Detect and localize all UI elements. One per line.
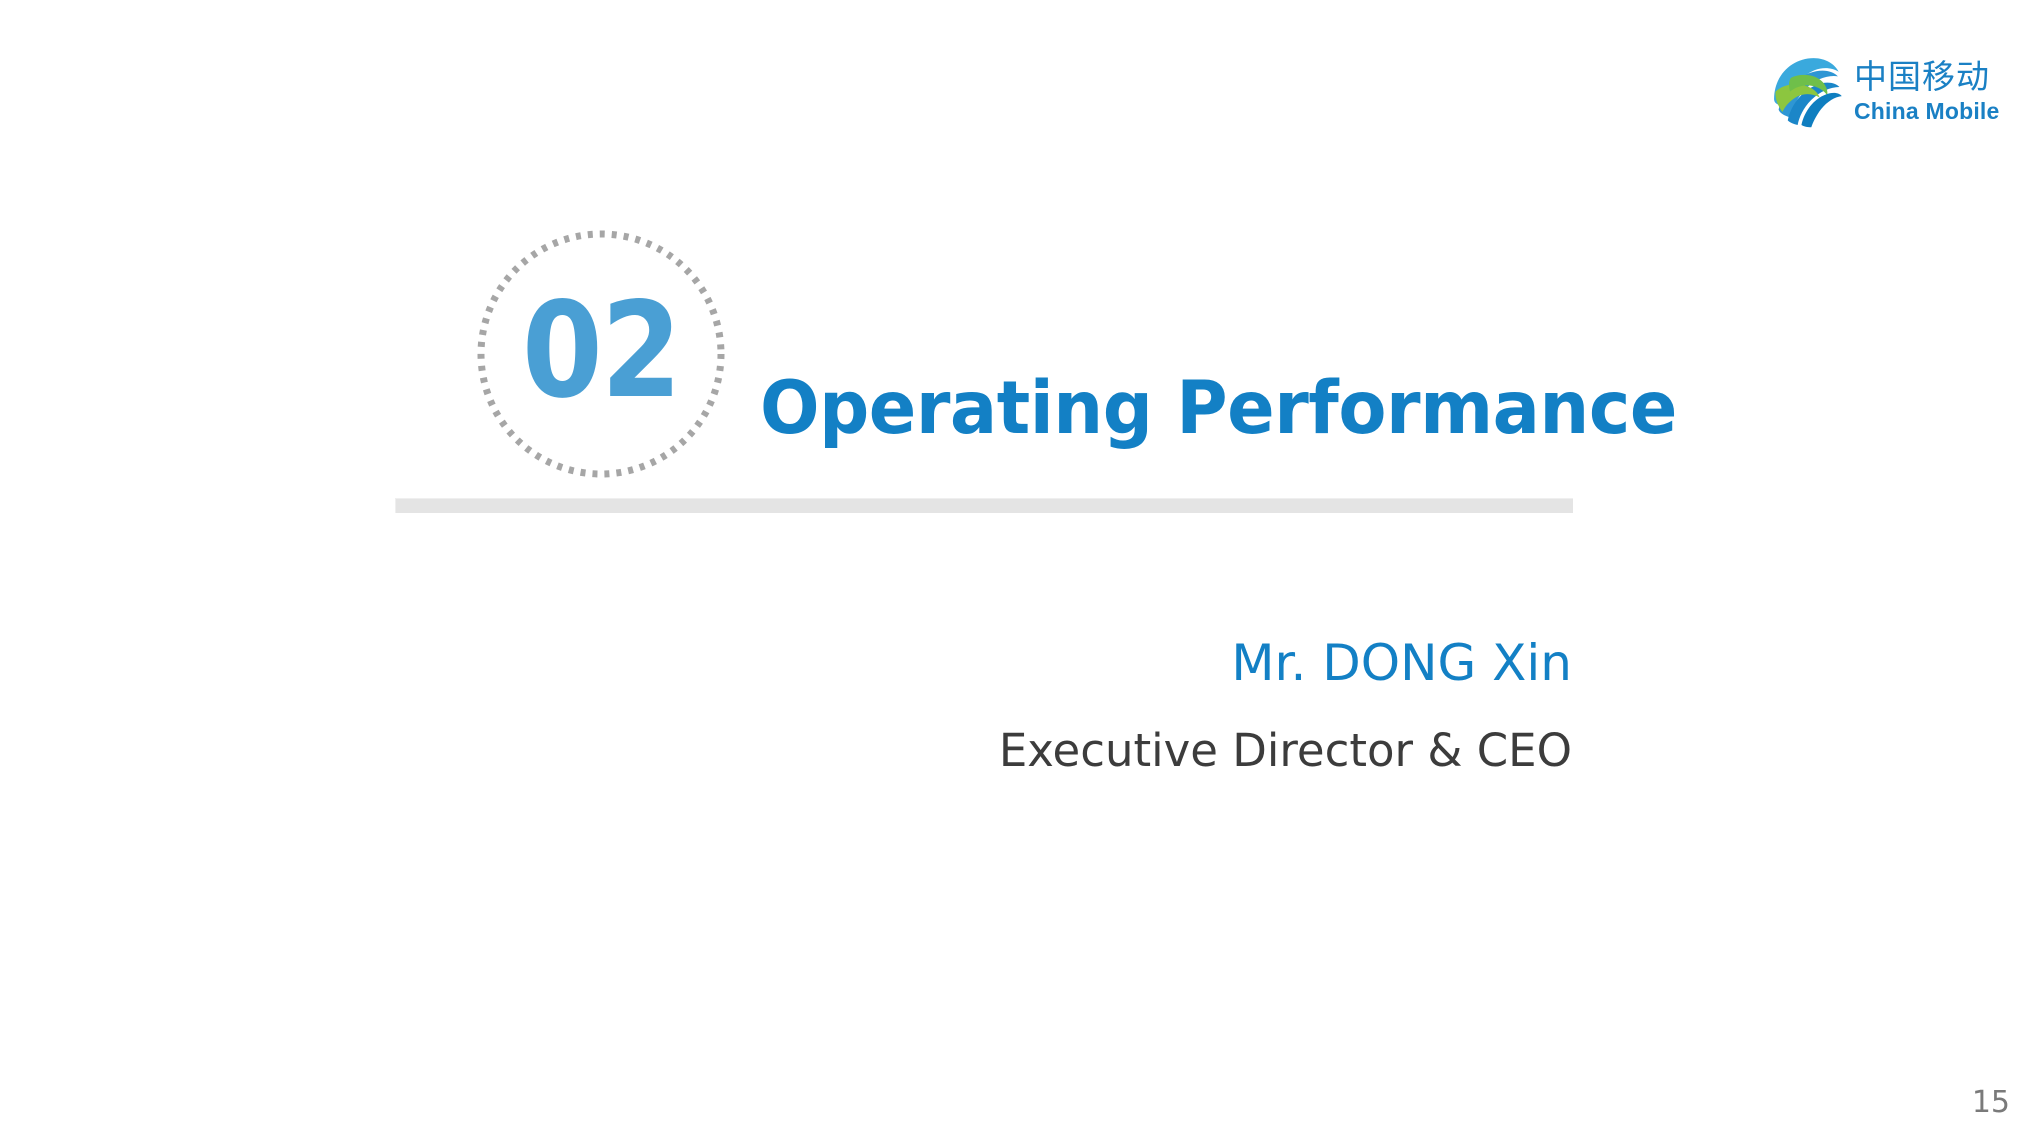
brand-name-cn: 中国移动	[1854, 60, 2000, 93]
page-number: 15	[1972, 1085, 2010, 1120]
china-mobile-wave-logo-icon	[1768, 52, 1844, 128]
section-number-badge: 02	[477, 230, 725, 478]
china-mobile-logo: 中国移动 China Mobile	[1768, 46, 2018, 134]
presenter-block: Mr. DONG Xin Executive Director & CEO	[600, 638, 1572, 773]
presentation-slide: 中国移动 China Mobile 02 Operating Performan…	[0, 0, 2038, 1146]
brand-name-en: China Mobile	[1854, 100, 2000, 123]
presenter-name: Mr. DONG Xin	[600, 638, 1572, 688]
divider-bar	[395, 498, 1573, 513]
section-title: Operating Performance	[760, 366, 1542, 451]
brand-text-block: 中国移动 China Mobile	[1854, 58, 2000, 123]
section-number: 02	[492, 230, 710, 478]
presenter-role: Executive Director & CEO	[600, 728, 1572, 773]
